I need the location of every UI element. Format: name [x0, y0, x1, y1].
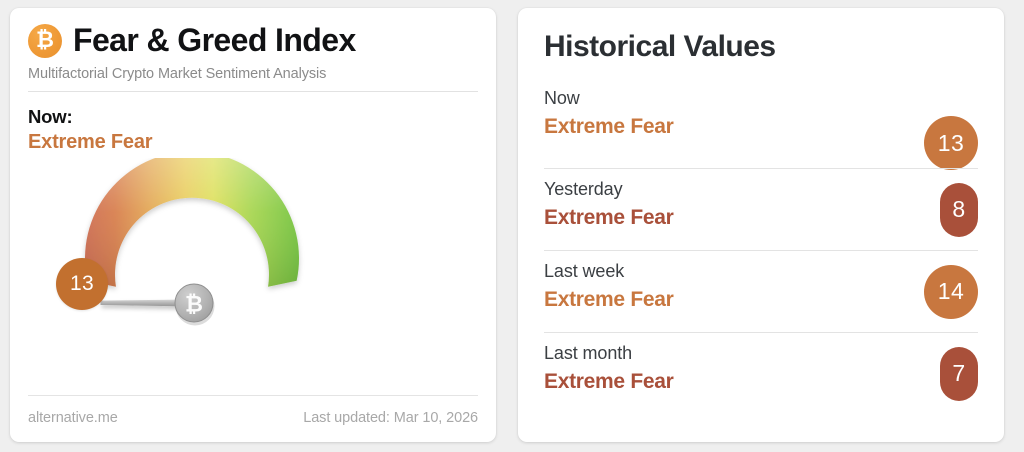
page-subtitle: Multifactorial Crypto Market Sentiment A…	[28, 66, 478, 91]
gauge-card-footer: alternative.me Last updated: Mar 10, 202…	[28, 410, 478, 426]
historical-values-card: Historical Values NowExtreme Fear13Yeste…	[518, 8, 1004, 442]
historical-row: Last weekExtreme Fear14	[544, 250, 978, 332]
gauge-arc	[85, 158, 299, 287]
historical-row-classification: Extreme Fear	[544, 206, 978, 230]
gauge-card-header: ₿ Fear & Greed Index	[28, 22, 478, 59]
historical-row-classification: Extreme Fear	[544, 370, 978, 394]
now-classification: Extreme Fear	[28, 131, 478, 154]
footer-last-updated: Last updated: Mar 10, 2026	[303, 410, 478, 426]
historical-list: NowExtreme Fear13YesterdayExtreme Fear8L…	[544, 86, 978, 414]
historical-row-value-badge: 8	[940, 183, 978, 237]
gauge-value-badge-text: 13	[70, 272, 94, 296]
dashboard-root: ₿ Fear & Greed Index Multifactorial Cryp…	[0, 0, 1024, 452]
fear-greed-gauge-card: ₿ Fear & Greed Index Multifactorial Cryp…	[10, 8, 496, 442]
historical-row-period: Last month	[544, 343, 978, 364]
footer-divider	[28, 395, 478, 396]
historical-row-period: Yesterday	[544, 179, 978, 200]
historical-row-value-badge: 14	[924, 265, 978, 319]
gauge-needle-hub: ₿	[175, 284, 215, 326]
bitcoin-icon: ₿	[28, 24, 62, 58]
historical-row-value-badge: 13	[924, 116, 978, 170]
historical-row: Last monthExtreme Fear7	[544, 332, 978, 414]
now-label: Now:	[28, 106, 478, 128]
historical-row: NowExtreme Fear13	[544, 86, 978, 168]
gauge-hub-bitcoin-icon: ₿	[185, 292, 203, 317]
historical-row-period: Last week	[544, 261, 978, 282]
bitcoin-icon-glyph: ₿	[36, 29, 54, 51]
gauge-value-badge: 13	[56, 258, 108, 310]
historical-row-value-badge: 7	[940, 347, 978, 401]
footer-source-link[interactable]: alternative.me	[28, 410, 118, 426]
historical-row-classification: Extreme Fear	[544, 115, 978, 139]
historical-row: YesterdayExtreme Fear8	[544, 168, 978, 250]
historical-row-period: Now	[544, 88, 978, 109]
header-divider	[28, 91, 478, 92]
historical-row-classification: Extreme Fear	[544, 288, 978, 312]
page-title: Fear & Greed Index	[73, 22, 356, 59]
now-block: Now: Extreme Fear	[28, 106, 478, 154]
gauge-chart: ₿ 13	[28, 158, 478, 373]
historical-title: Historical Values	[544, 30, 978, 64]
